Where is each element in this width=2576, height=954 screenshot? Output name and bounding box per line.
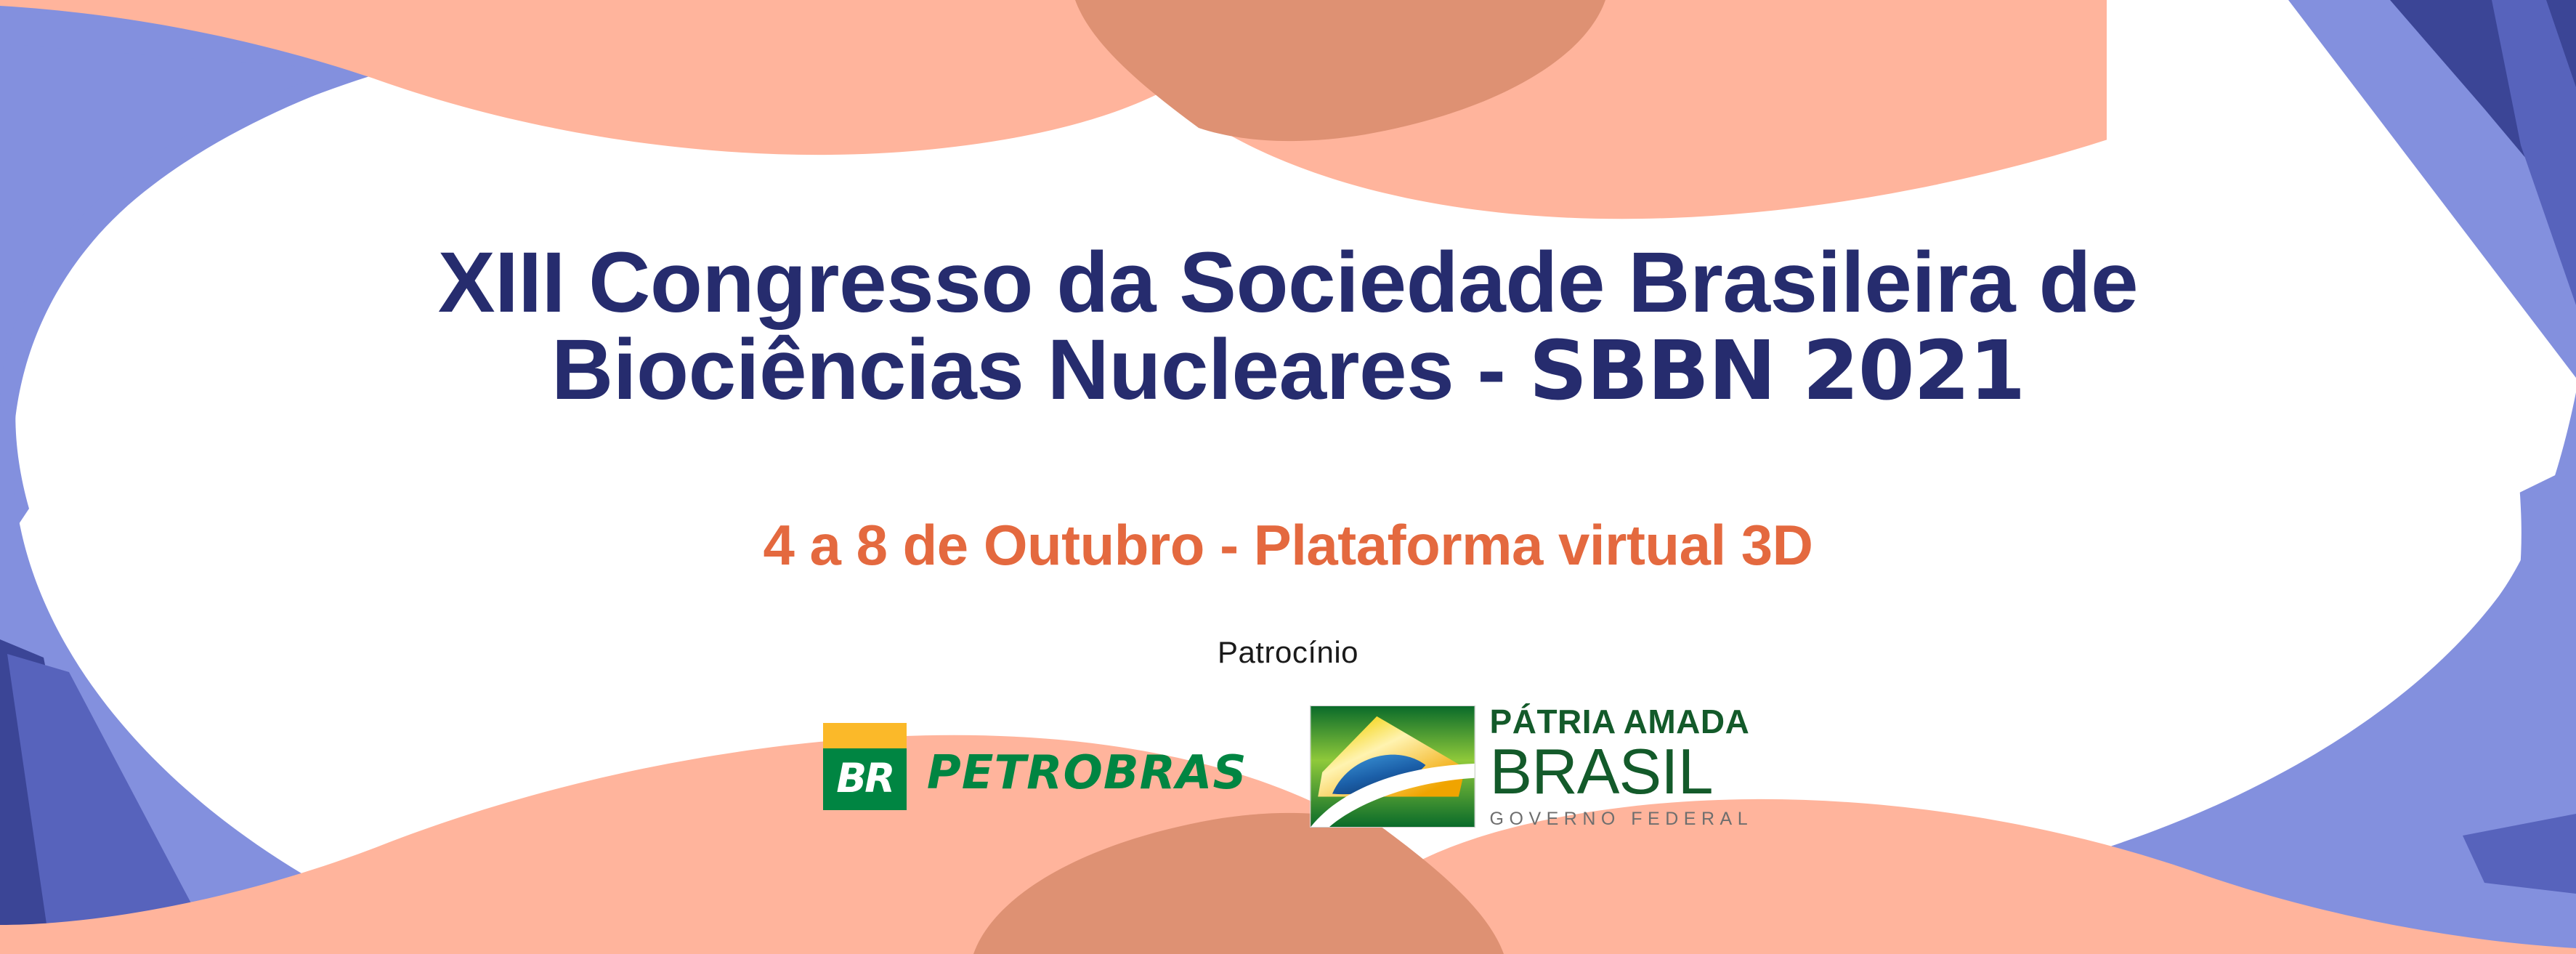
petrobras-wordmark: PETROBRAS xyxy=(927,746,1247,810)
brasil-wordmark-text: PÁTRIA AMADA BRASIL GOVERNO FEDERAL xyxy=(1490,705,1754,828)
sponsor-logo-row: BR PETROBRAS xyxy=(823,705,1753,828)
event-title-line-1: XIII Congresso da Sociedade Brasileira d… xyxy=(438,239,2138,326)
brasil-governo-federal-logo[interactable]: PÁTRIA AMADA BRASIL GOVERNO FEDERAL xyxy=(1310,705,1754,828)
petrobras-logo[interactable]: BR PETROBRAS xyxy=(823,723,1247,810)
brasil-name: BRASIL xyxy=(1490,740,1754,804)
petrobras-br-text: BR xyxy=(823,752,907,806)
event-banner: XIII Congresso da Sociedade Brasileira d… xyxy=(0,0,2576,954)
event-title-acronym: SBBN 2021 xyxy=(1529,324,2025,419)
brasil-tagline: PÁTRIA AMADA xyxy=(1490,705,1754,738)
banner-content: XIII Congresso da Sociedade Brasileira d… xyxy=(0,0,2576,954)
brazil-flag-emblem-icon xyxy=(1310,706,1475,828)
event-title: XIII Congresso da Sociedade Brasileira d… xyxy=(438,239,2138,414)
event-dates-and-format: 4 a 8 de Outubro - Plataforma virtual 3D xyxy=(763,512,1812,578)
brasil-governo-federal-text: GOVERNO FEDERAL xyxy=(1490,810,1754,828)
petrobras-br-mark: BR xyxy=(823,723,907,810)
petrobras-yellow-bar xyxy=(823,723,907,748)
event-title-line-2-prefix: Biociências Nucleares - xyxy=(551,322,1529,418)
event-title-line-2: Biociências Nucleares - SBBN 2021 xyxy=(438,326,2138,413)
sponsorship-label: Patrocínio xyxy=(1218,635,1358,670)
